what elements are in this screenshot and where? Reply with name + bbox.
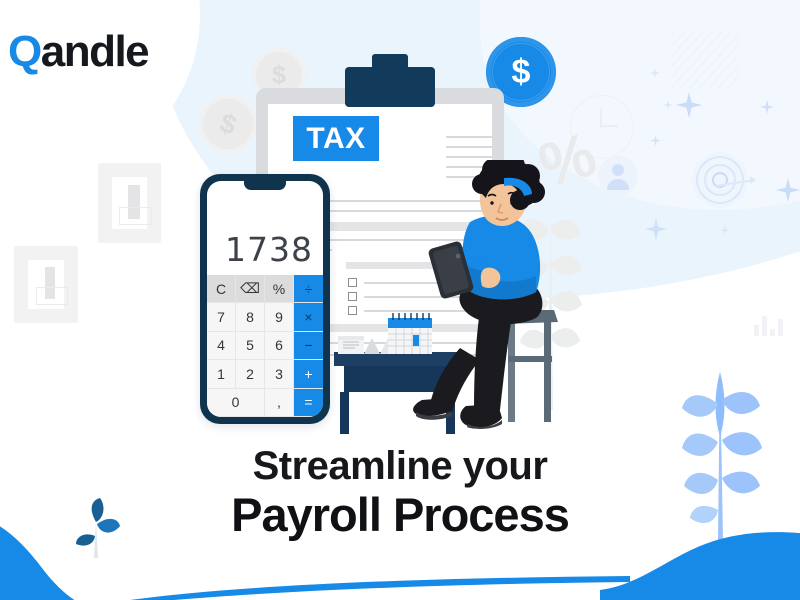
calculator-key[interactable]: 1 [207, 360, 236, 388]
calculator-key[interactable]: 6 [265, 332, 294, 360]
currency-symbol: $ [216, 107, 240, 141]
headline-block: Streamline your Payroll Process [0, 444, 800, 541]
form-checkbox[interactable] [348, 292, 357, 301]
calculator-key[interactable]: 3 [265, 360, 294, 388]
sparkle-icon [650, 68, 660, 78]
calculator-key[interactable]: ⌫ [236, 275, 265, 303]
calculator-key[interactable]: − [294, 332, 323, 360]
calculator-key[interactable]: × [294, 303, 323, 331]
logo-letter-q: Q [8, 27, 41, 76]
calculator-keypad[interactable]: C⌫%÷789×456−123+0,= [207, 275, 323, 417]
calculator-key[interactable]: C [207, 275, 236, 303]
target-icon [692, 152, 748, 208]
logo-text: andle [41, 27, 148, 76]
form-checkbox[interactable] [348, 278, 357, 287]
picture-frame [14, 246, 78, 323]
woman-on-chair-with-phone [408, 160, 588, 440]
smartphone-calculator[interactable]: 1738 C⌫%÷789×456−123+0,= [200, 174, 330, 424]
sparkle-icon [663, 100, 673, 110]
calculator-key[interactable]: % [265, 275, 294, 303]
calculator-key[interactable]: 9 [265, 303, 294, 331]
currency-symbol: $ [272, 61, 286, 90]
sparkle-icon [645, 218, 667, 240]
calculator-key[interactable]: 2 [236, 360, 265, 388]
headline-line-2: Payroll Process [0, 489, 800, 542]
clipboard-clip [345, 67, 435, 107]
sparkle-icon [676, 92, 702, 118]
calculator-key[interactable]: + [294, 360, 323, 388]
phone-notch [244, 181, 286, 190]
office-desk-leg [340, 392, 349, 434]
headline-line-1: Streamline your [0, 444, 800, 489]
picture-frame [98, 163, 161, 243]
sparkle-icon [760, 100, 774, 114]
calculator-display-value: 1738 [225, 230, 313, 269]
phone-screen: 1738 C⌫%÷789×456−123+0,= [207, 181, 323, 417]
form-checkbox[interactable] [348, 306, 357, 315]
calculator-key[interactable]: , [265, 389, 294, 417]
blue-thin-wave [130, 574, 630, 600]
calculator-key[interactable]: 4 [207, 332, 236, 360]
currency-symbol: $ [512, 53, 531, 92]
hatch-lines-icon [672, 32, 738, 88]
sparkle-icon [720, 225, 730, 235]
brand-logo[interactable]: Qandle [8, 30, 148, 74]
picture-frame-box [36, 287, 68, 305]
tax-badge: TAX [293, 116, 379, 161]
calculator-key[interactable]: ÷ [294, 275, 323, 303]
picture-frame-box [119, 207, 152, 225]
calculator-key[interactable]: 7 [207, 303, 236, 331]
promo-banner: % $ [0, 0, 800, 600]
sparkle-icon [650, 135, 661, 146]
sparkle-icon [776, 178, 800, 202]
bar-chart-icon [754, 312, 788, 336]
calculator-key[interactable]: 8 [236, 303, 265, 331]
calculator-key[interactable]: 0 [207, 389, 265, 417]
calculator-key[interactable]: 5 [236, 332, 265, 360]
person-icon [598, 156, 638, 196]
calculator-display: 1738 [207, 181, 323, 275]
calculator-key[interactable]: = [294, 389, 323, 417]
